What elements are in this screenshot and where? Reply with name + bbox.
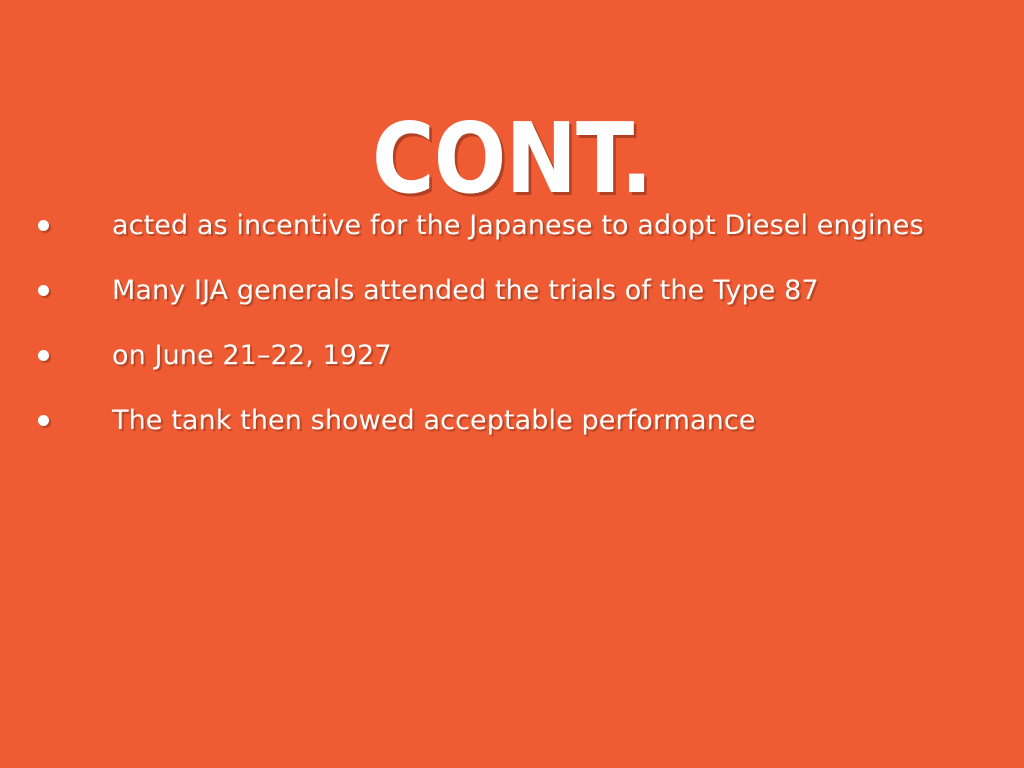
- list-item: on June 21–22, 1927: [0, 323, 1024, 388]
- bullet-list: acted as incentive for the Japanese to a…: [0, 193, 1024, 453]
- bullet-point-icon: [38, 415, 49, 426]
- list-item-label: The tank then showed acceptable performa…: [112, 388, 756, 453]
- list-item-label: on June 21–22, 1927: [112, 323, 392, 388]
- bullet-point-icon: [38, 220, 49, 231]
- bullet-point-icon: [38, 285, 49, 296]
- list-item: acted as incentive for the Japanese to a…: [0, 193, 1024, 258]
- list-item-label: acted as incentive for the Japanese to a…: [112, 193, 924, 258]
- slide-canvas: CONT. acted as incentive for the Japanes…: [0, 0, 1024, 768]
- bullet-point-icon: [38, 350, 49, 361]
- list-item-label: Many IJA generals attended the trials of…: [112, 258, 819, 323]
- list-item: The tank then showed acceptable performa…: [0, 388, 1024, 453]
- list-item: Many IJA generals attended the trials of…: [0, 258, 1024, 323]
